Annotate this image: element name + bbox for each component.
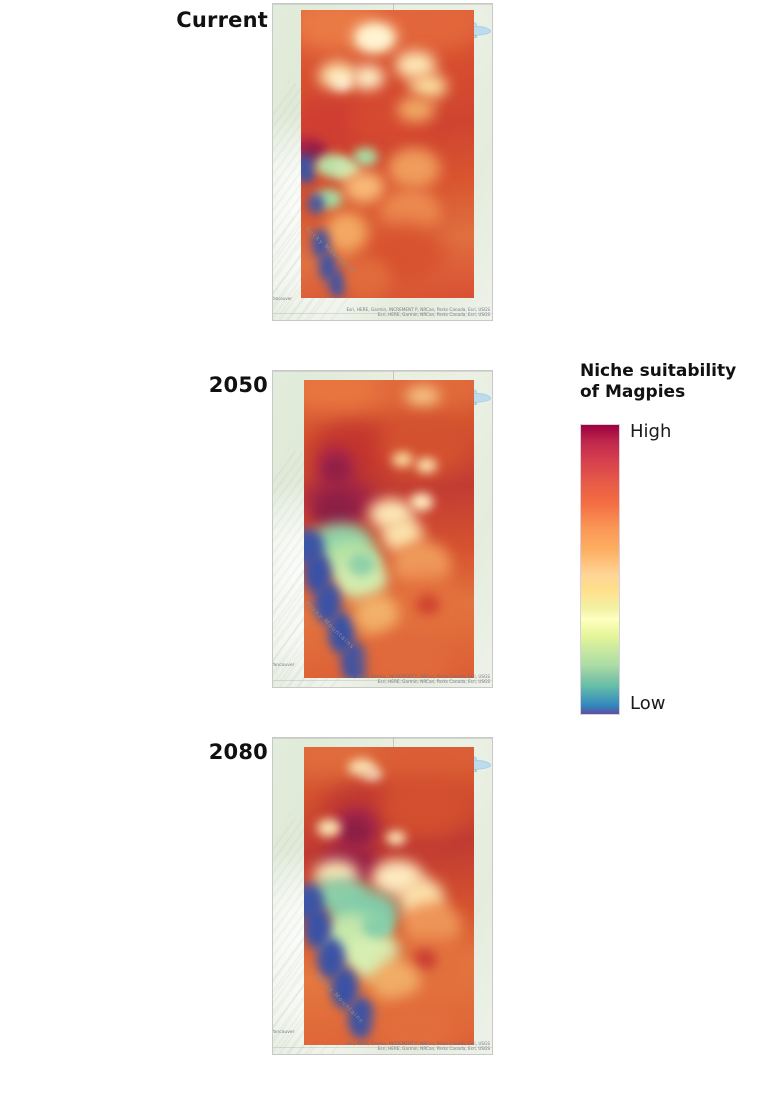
raster-cell	[379, 777, 471, 836]
colorbar-low-label: Low	[630, 693, 665, 714]
panel-label-2080: 2080	[120, 740, 268, 764]
panel-label-2050: 2050	[120, 373, 268, 397]
colorbar-gradient	[580, 424, 620, 715]
raster-cell	[362, 914, 393, 938]
raster-cell	[326, 212, 368, 252]
niche-suitability-raster-current	[301, 10, 474, 298]
legend-title-line2: of Magpies	[580, 382, 768, 403]
raster-cell	[353, 148, 377, 165]
city-label-vancouver: Vancouver	[272, 296, 292, 301]
legend-title-line1: Niche suitability	[580, 361, 768, 382]
map-attribution: Esri, HERE, Garmin, INCREMENT P, NRCan, …	[346, 674, 490, 685]
niche-suitability-raster-2050	[304, 380, 475, 677]
graticule-line	[273, 4, 492, 5]
map-panel-2050[interactable]: Lake Athabasca Rocky Mountains Vanco	[272, 370, 493, 688]
map-panel-current[interactable]: Lake Athabasca Rocky Moun	[272, 3, 493, 321]
raster-cell	[353, 65, 384, 91]
raster-cell	[301, 166, 313, 183]
graticule-line	[273, 371, 492, 372]
colorbar-high-label: High	[630, 421, 671, 442]
raster-cell	[416, 458, 436, 473]
graticule-line	[273, 738, 492, 739]
city-label-vancouver: Vancouver	[272, 663, 295, 668]
raster-cell	[317, 819, 341, 837]
raster-cell	[388, 148, 440, 188]
map-attribution: Esri, HERE, Garmin, INCREMENT P, NRCan, …	[346, 1041, 490, 1052]
niche-suitability-raster-2080	[304, 747, 475, 1044]
raster-cell	[333, 76, 350, 90]
map-attribution: Esri, HERE, Garmin, INCREMENT P, NRCan, …	[346, 307, 490, 318]
raster-cell	[341, 819, 368, 846]
raster-cell	[413, 949, 437, 970]
raster-cell	[346, 258, 391, 298]
raster-cell	[359, 28, 390, 48]
map-panel-2080[interactable]: Lake Athabasca Rocky Mountains	[272, 737, 493, 1055]
raster-cell	[343, 171, 385, 203]
legend: Niche suitability of Magpies High Low	[560, 355, 768, 730]
raster-cell	[397, 97, 435, 123]
legend-title: Niche suitability of Magpies	[580, 361, 768, 402]
raster-cell	[409, 74, 447, 100]
raster-cell	[365, 630, 450, 678]
raster-cell	[355, 594, 399, 636]
city-label-vancouver: Vancouver	[272, 1030, 295, 1035]
raster-cell	[392, 452, 412, 467]
panel-label-current: Current	[120, 8, 268, 32]
